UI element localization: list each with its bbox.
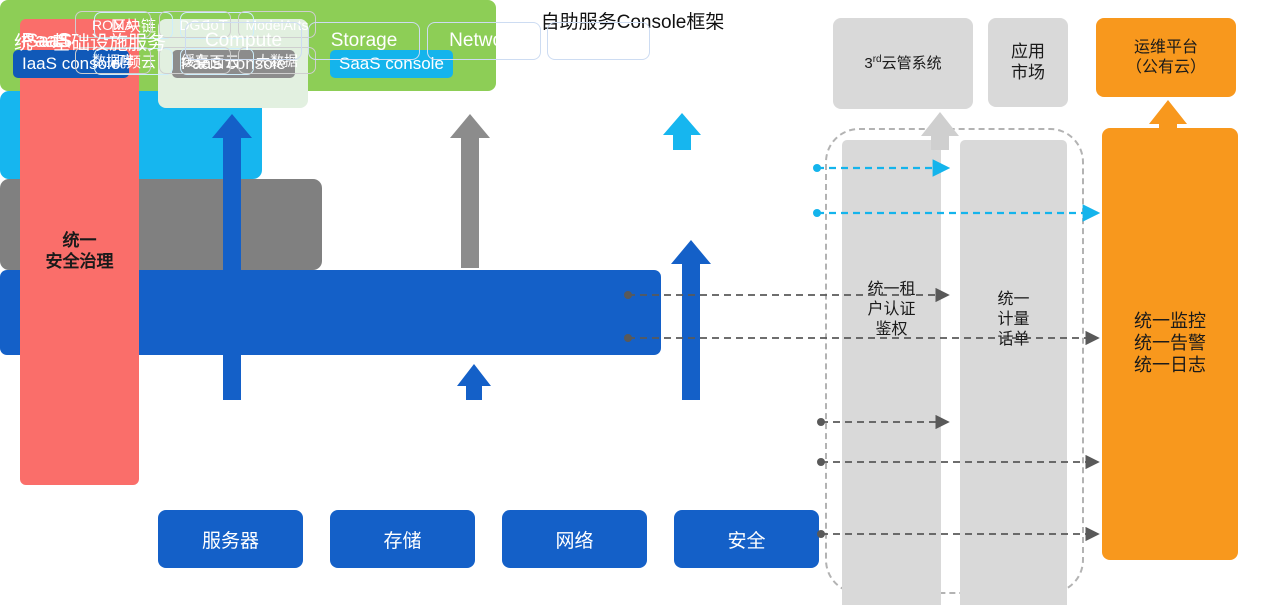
ops-main-line-3: 统一日志	[1134, 355, 1206, 377]
governance-line-2: 安全治理	[46, 252, 114, 273]
infra-service-cce[interactable]: CCE	[547, 22, 650, 60]
ops-main-line-2: 统一告警	[1134, 333, 1206, 355]
hardware-network: 网络	[502, 510, 647, 568]
auth-line-3: 鉴权	[867, 320, 915, 340]
governance-line-1: 统一	[46, 231, 114, 252]
infra-service-storage[interactable]: Storage	[308, 22, 420, 60]
hardware-security: 安全	[674, 510, 819, 568]
unified-monitoring-block: 统一监控 统一告警 统一日志	[1102, 128, 1238, 560]
app-market-block: 应用 市场	[988, 18, 1068, 107]
hardware-storage: 存储	[330, 510, 475, 568]
ops-main-line-1: 统一监控	[1134, 311, 1206, 333]
arrow-infra-to-saas	[671, 240, 711, 400]
billing-line-1: 统一	[997, 290, 1029, 310]
arrow-paas-to-console	[450, 114, 490, 268]
app-market-line-2: 市场	[1011, 63, 1045, 84]
billing-line-2: 计量	[997, 310, 1029, 330]
billing-line-3: 话单	[997, 330, 1029, 350]
third-party-suffix: 云管系统	[882, 55, 942, 72]
unified-tenant-auth-block: 统一租 户认证 鉴权	[842, 140, 941, 605]
unified-infrastructure-label: 统一基础设施服务	[14, 28, 166, 55]
third-party-prefix: 3	[864, 55, 872, 72]
ops-top-line-1: 运维平台	[1126, 38, 1206, 58]
third-party-sup: rd	[873, 54, 882, 65]
auth-line-1: 统一租	[867, 280, 915, 300]
auth-line-2: 户认证	[867, 300, 915, 320]
unified-metering-billing-block: 统一 计量 话单	[960, 140, 1067, 605]
arrow-infra-to-paas	[457, 364, 491, 400]
ops-platform-public-cloud-block: 运维平台 （公有云）	[1096, 18, 1236, 97]
arrow-saas-to-console	[663, 113, 701, 150]
app-market-line-1: 应用	[1011, 42, 1045, 63]
infra-service-network[interactable]: Network	[427, 22, 541, 60]
unified-security-governance-block: 统一 安全治理	[20, 19, 139, 485]
architecture-diagram: 统一 安全治理 API网关 自助服务Console框架 IaaS console…	[0, 0, 1265, 605]
ops-top-line-2: （公有云）	[1126, 58, 1206, 78]
third-party-cloud-management-block: 3rd云管系统	[833, 18, 973, 109]
infra-service-compute[interactable]: Compute	[185, 22, 302, 60]
hardware-server: 服务器	[158, 510, 303, 568]
third-party-label: 3rd云管系统	[864, 54, 941, 73]
